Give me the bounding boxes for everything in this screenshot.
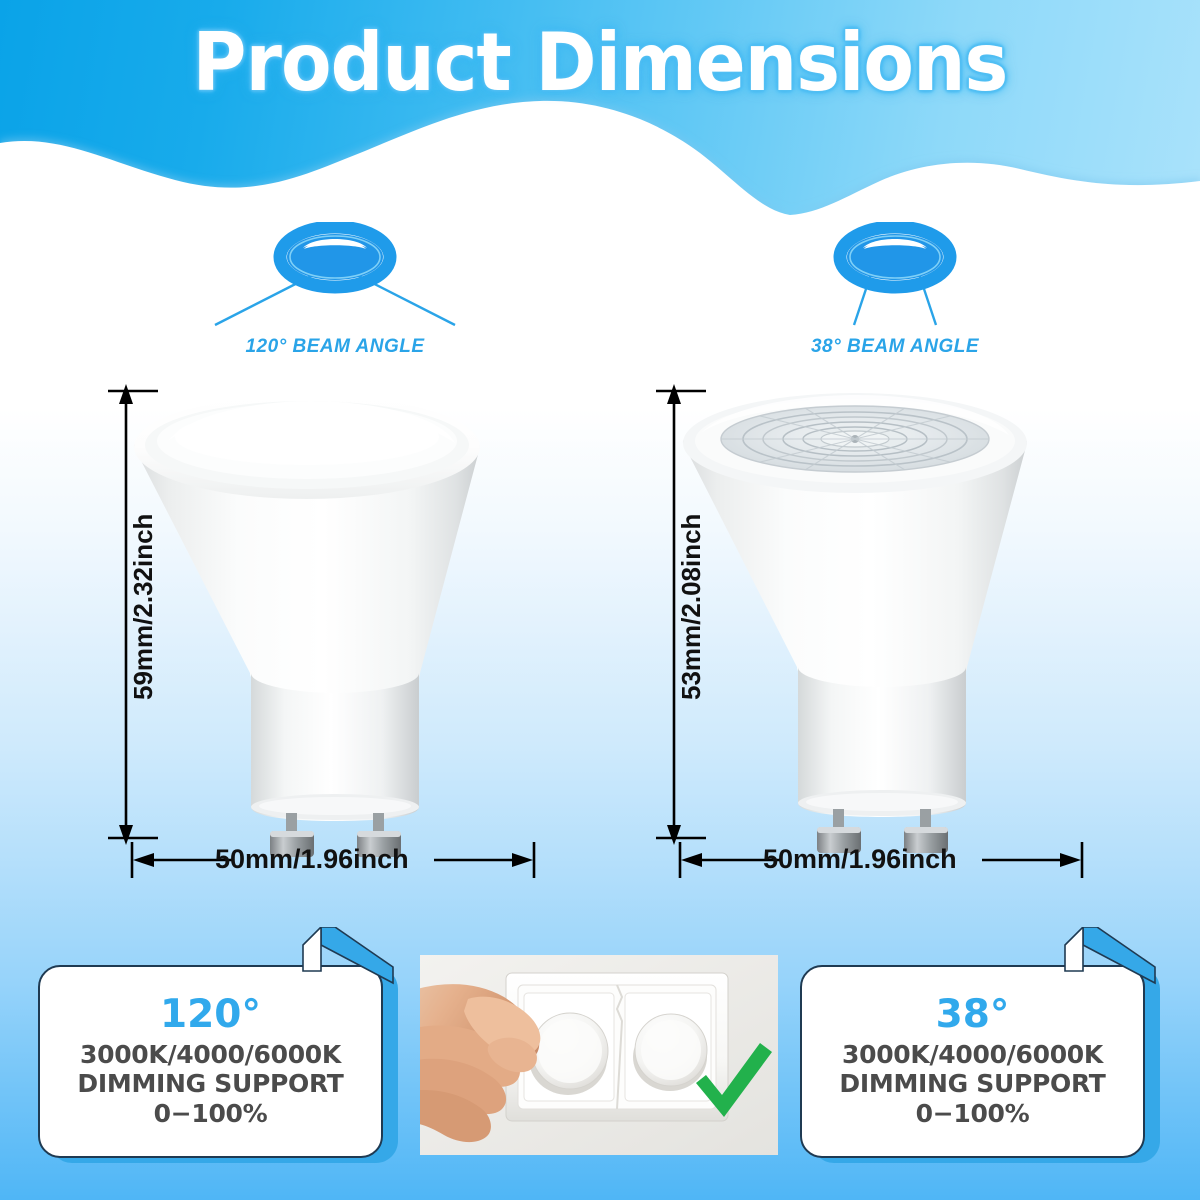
card-dimming-range: 0−100% <box>916 1099 1030 1128</box>
downlight-beam-icon <box>185 222 485 332</box>
hand-on-dimmer-knob-illustration <box>420 955 778 1155</box>
product-image-bulb-120 <box>120 385 550 870</box>
beam-angle-label-38: 38° BEAM ANGLE <box>745 336 1045 358</box>
card-dimming-range: 0−100% <box>154 1099 268 1128</box>
card-tab-flag-icon <box>285 927 405 997</box>
downlight-beam-icon <box>745 222 1045 332</box>
card-tab-flag-icon <box>1047 927 1167 997</box>
height-label-left: 59mm/2.32inch <box>128 514 159 700</box>
card-dimming-support: DIMMING SUPPORT <box>839 1069 1105 1098</box>
card-color-temperature: 3000K/4000/6000K <box>842 1040 1103 1069</box>
gu10-led-bulb-smooth-lens <box>120 385 550 870</box>
infographic-page: Product Dimensions 120° BEAM ANGLE <box>0 0 1200 1200</box>
card-angle-value: 38° <box>936 995 1010 1034</box>
dimmer-switch-photo <box>420 955 778 1155</box>
beam-angle-group-38: 38° BEAM ANGLE <box>745 222 1045 358</box>
product-image-bulb-38 <box>665 385 1095 870</box>
width-label-right: 50mm/1.96inch <box>763 844 957 875</box>
card-angle-value: 120° <box>160 995 261 1034</box>
spec-card-38: 38° 3000K/4000/6000K DIMMING SUPPORT 0−1… <box>800 955 1160 1170</box>
gu10-led-bulb-reflector-lens <box>665 385 1095 870</box>
card-color-temperature: 3000K/4000/6000K <box>80 1040 341 1069</box>
page-title: Product Dimensions <box>48 16 1152 109</box>
card-dimming-support: DIMMING SUPPORT <box>77 1069 343 1098</box>
width-label-left: 50mm/1.96inch <box>215 844 409 875</box>
beam-angle-label-120: 120° BEAM ANGLE <box>185 336 485 358</box>
height-label-right: 53mm/2.08inch <box>676 514 707 700</box>
spec-card-120: 120° 3000K/4000/6000K DIMMING SUPPORT 0−… <box>38 955 398 1170</box>
beam-angle-group-120: 120° BEAM ANGLE <box>185 222 485 358</box>
header-banner: Product Dimensions <box>0 0 1200 215</box>
